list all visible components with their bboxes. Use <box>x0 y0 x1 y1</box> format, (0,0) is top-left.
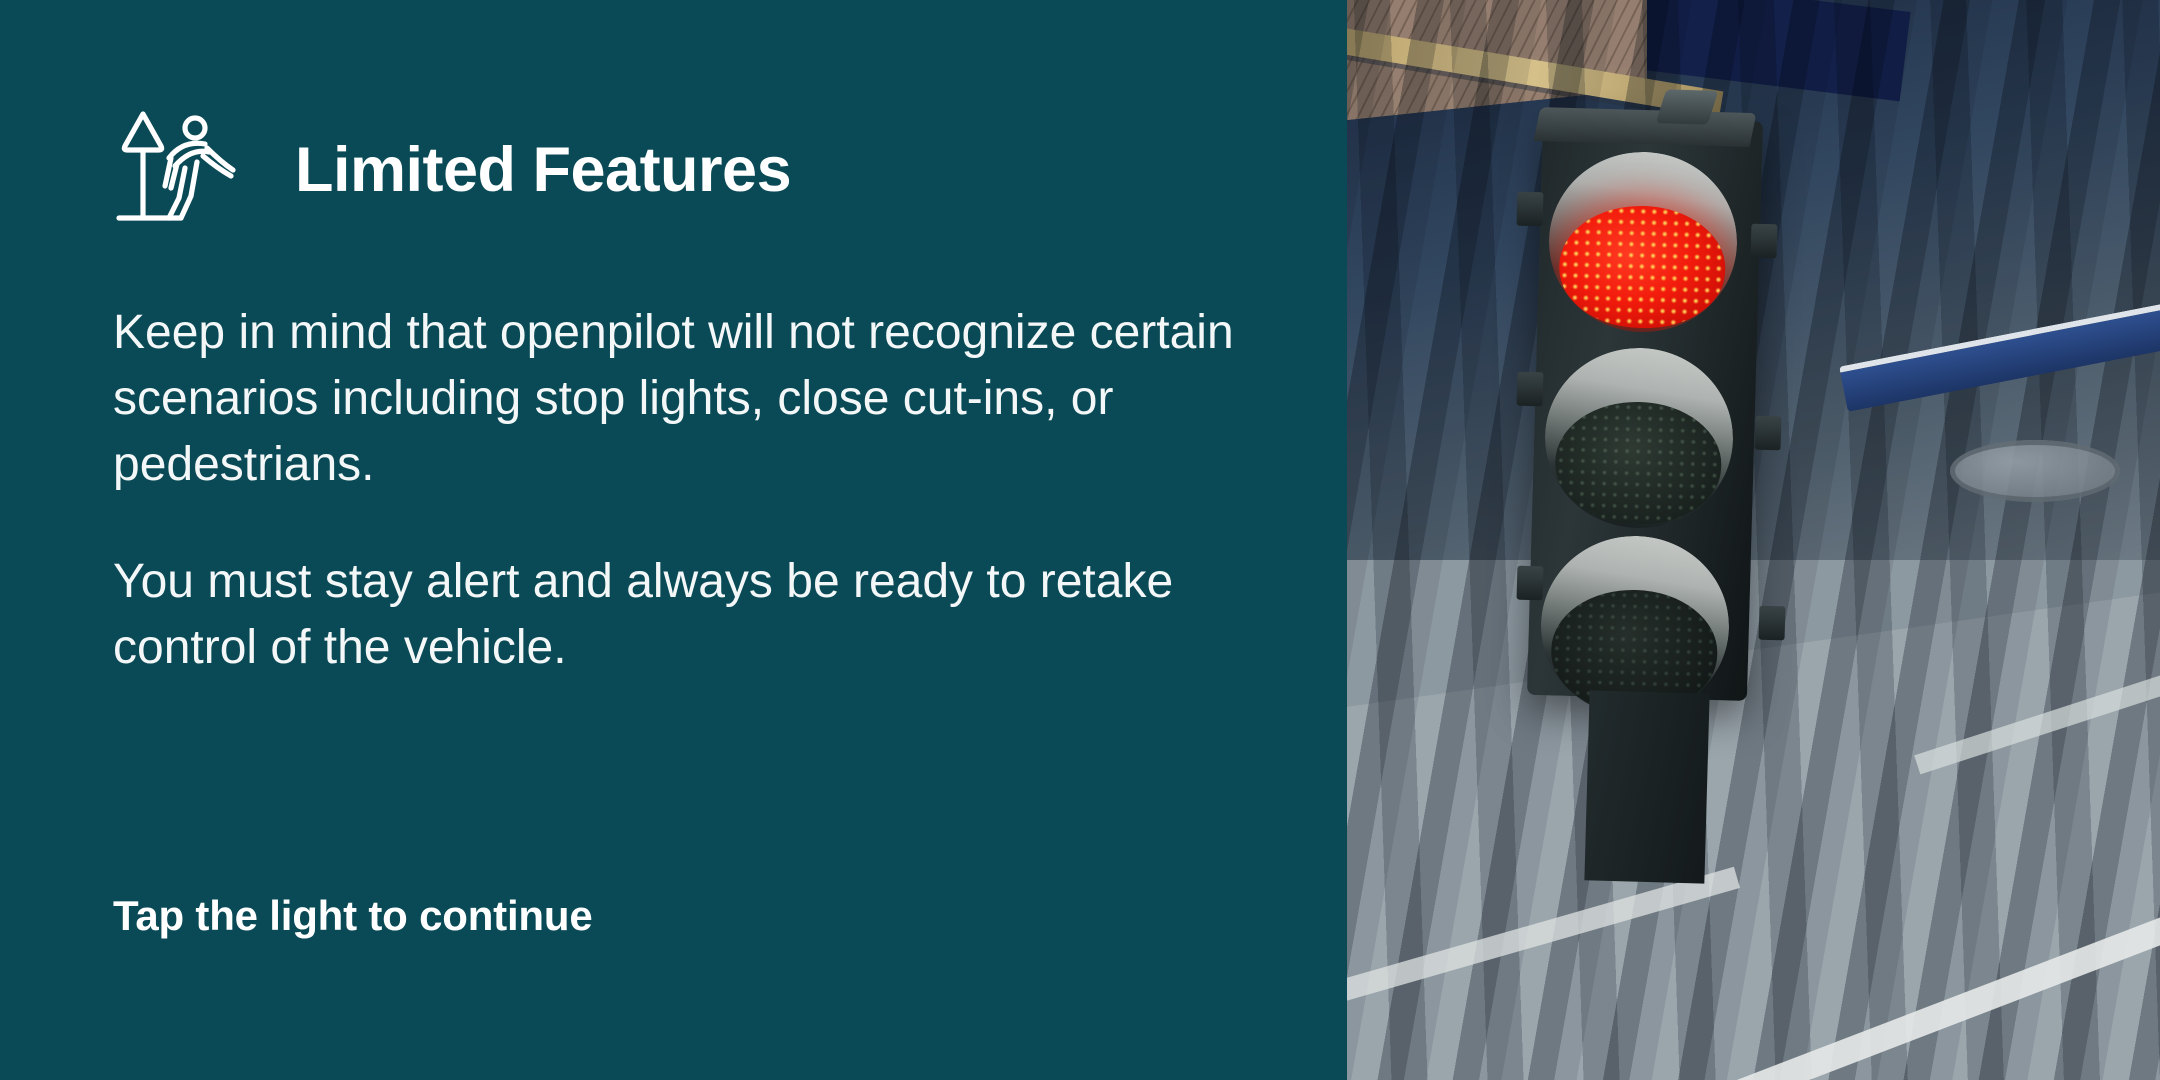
traffic-light-antenna <box>1656 89 1719 124</box>
continue-hint: Tap the light to continue <box>113 895 593 937</box>
body-paragraph-1: Keep in mind that openpilot will not rec… <box>113 300 1253 497</box>
traffic-light[interactable] <box>1535 96 1785 716</box>
housing-bracket <box>1755 416 1782 451</box>
onboarding-screen: Limited Features Keep in mind that openp… <box>0 0 2160 1080</box>
page-title: Limited Features <box>295 139 791 202</box>
info-panel: Limited Features Keep in mind that openp… <box>0 0 1347 1080</box>
housing-bracket <box>1517 192 1544 227</box>
manhole-cover <box>1950 440 2120 502</box>
traffic-light-photo[interactable] <box>1347 0 2160 1080</box>
panel-body: Keep in mind that openpilot will not rec… <box>113 300 1273 681</box>
housing-bracket <box>1751 224 1778 259</box>
traffic-light-top-cap <box>1534 107 1757 147</box>
housing-bracket <box>1759 606 1786 641</box>
housing-bracket <box>1517 372 1544 407</box>
body-paragraph-2: You must stay alert and always be ready … <box>113 549 1253 681</box>
pedestrian-crossing-sign-icon <box>113 100 253 240</box>
traffic-light-pole <box>1584 690 1709 883</box>
housing-bracket <box>1517 566 1544 601</box>
panel-header: Limited Features <box>113 100 791 240</box>
